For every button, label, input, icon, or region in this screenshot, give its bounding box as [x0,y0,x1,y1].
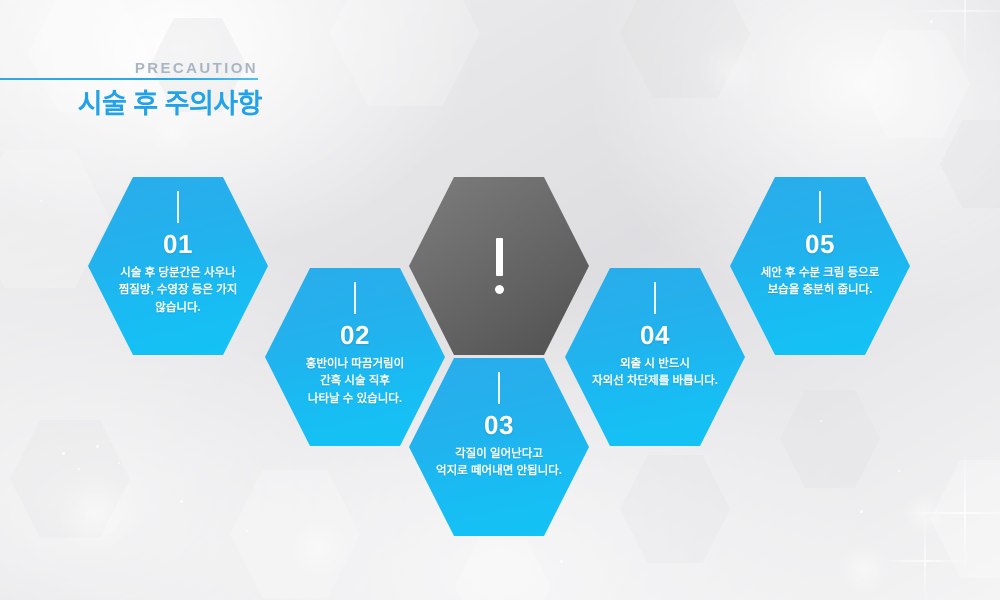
bokeh-circle [840,545,888,593]
star-flare [964,452,966,572]
sparkle-dot [118,462,120,464]
step-number: 04 [640,322,670,348]
bokeh-hexagon [930,460,1000,578]
step-number: 01 [163,231,193,257]
sparkle-dot [898,470,900,472]
bokeh-circle [290,520,346,576]
sparkle-dot [560,560,563,563]
slide-canvas: PRECAUTION 시술 후 주의사항 01 시술 후 당분간은 사우나 찜질… [0,0,1000,600]
exclamation-dot [495,285,504,294]
sparkle-dot [96,445,99,448]
star-flare [924,515,926,600]
star-flare [964,0,966,66]
tick-marker [498,372,500,404]
tick-marker [177,191,179,223]
exclamation-bar [496,238,503,276]
step-hexagon-04[interactable]: 04 외출 시 반드시 자외선 차단제를 바릅니다. [565,268,745,446]
sparkle-dot [246,530,248,532]
eyebrow-label: PRECAUTION [0,60,258,77]
bokeh-hexagon [230,470,360,598]
sparkle-dot [820,420,822,422]
sparkle-dot [180,500,183,503]
sparkle-dot [62,452,65,455]
bokeh-hexagon [330,0,480,106]
exclamation-icon [409,177,589,355]
step-number: 05 [805,231,835,257]
warning-hexagon[interactable] [409,177,589,355]
bokeh-hexagon [10,420,130,538]
step-number: 02 [340,322,370,348]
tick-marker [354,282,356,314]
step-description: 세안 후 수분 크림 등으로 보습을 충분히 줍니다. [737,265,903,300]
step-number: 03 [484,412,514,438]
bokeh-hexagon [455,540,551,600]
bokeh-circle [700,40,760,100]
step-description: 외출 시 반드시 자외선 차단제를 바릅니다. [572,356,738,391]
star-flare [880,560,970,562]
bokeh-hexagon [620,0,750,98]
sparkle-dot [930,20,933,23]
step-description: 각질이 일어난다고 억지로 떼어내면 안됩니다. [416,446,582,481]
star-flare [910,10,1000,12]
step-hexagon-01[interactable]: 01 시술 후 당분간은 사우나 찜질방, 수영장 등은 가지 않습니다. [88,177,268,355]
tick-marker [819,191,821,223]
sparkle-dot [78,468,80,470]
bokeh-circle [60,480,130,550]
step-hexagon-03[interactable]: 03 각질이 일어난다고 억지로 떼어내면 안됩니다. [409,358,589,536]
star-flare [905,512,1000,514]
step-description: 홍반이나 따끔거림이 간혹 시술 직후 나타날 수 있습니다. [272,356,438,408]
step-hexagon-05[interactable]: 05 세안 후 수분 크림 등으로 보습을 충분히 줍니다. [730,177,910,355]
tick-marker [654,282,656,314]
bokeh-hexagon [940,120,1000,208]
sparkle-dot [860,510,863,513]
bokeh-hexagon [860,30,970,138]
header-divider [0,78,258,80]
sparkle-dot [40,200,42,202]
step-hexagon-02[interactable]: 02 홍반이나 따끔거림이 간혹 시술 직후 나타날 수 있습니다. [265,268,445,446]
bokeh-hexagon [780,390,880,488]
step-description: 시술 후 당분간은 사우나 찜질방, 수영장 등은 가지 않습니다. [95,265,261,317]
page-title: 시술 후 주의사항 [0,82,262,121]
bokeh-hexagon [620,455,730,563]
bokeh-circle [905,495,943,533]
